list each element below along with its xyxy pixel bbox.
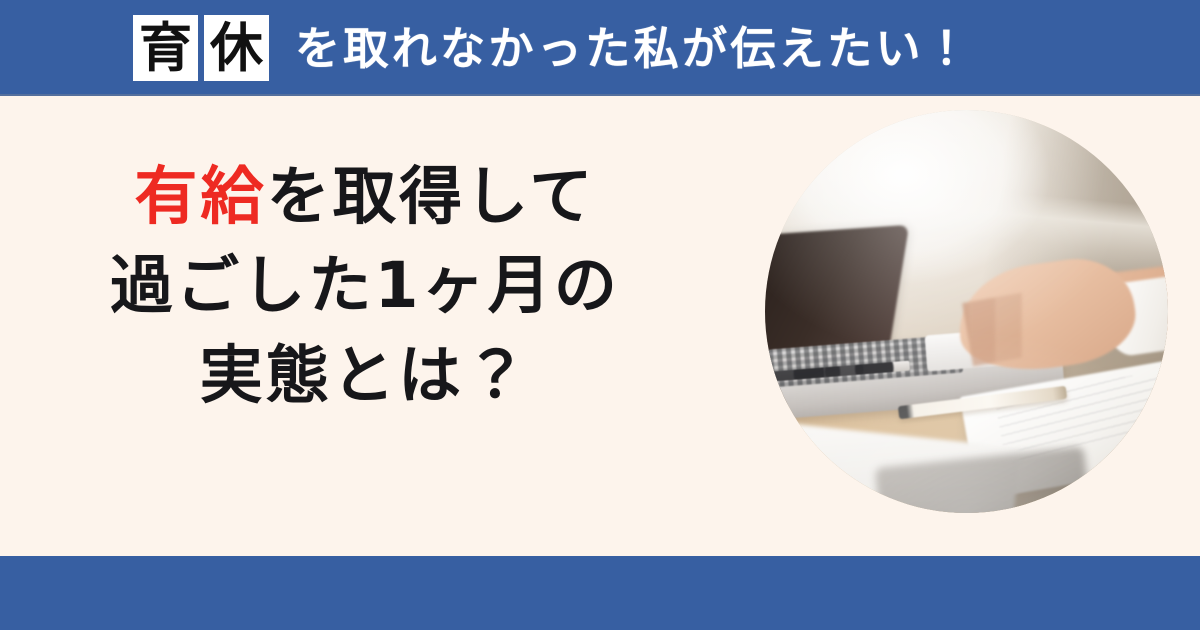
bottom-ribbon-banner xyxy=(0,556,1200,630)
top-ribbon-banner: 育 休 を取れなかった私が伝えたい！ xyxy=(0,0,1200,96)
top-ribbon-text: を取れなかった私が伝えたい！ xyxy=(295,26,972,71)
kanji-box-kyu: 休 xyxy=(204,15,269,81)
eyecatch-canvas: 育 休 を取れなかった私が伝えたい！ 有給を取得して 過ごした1ヶ月の 実態とは… xyxy=(0,0,1200,630)
circular-photo-laptop-hands xyxy=(765,110,1168,513)
kanji-box-iku: 育 xyxy=(133,15,198,81)
kanji-highlight-boxes: 育 休 xyxy=(133,15,269,81)
headline-line-2: 過ごした1ヶ月の xyxy=(0,241,730,330)
headline-line-1-rest: を取得して xyxy=(267,160,596,233)
headline-line-1: 有給を取得して xyxy=(0,152,730,241)
headline-accent-yukyu: 有給 xyxy=(134,160,266,233)
page-title: 有給を取得して 過ごした1ヶ月の 実態とは？ xyxy=(0,152,730,420)
headline-line-3: 実態とは？ xyxy=(0,331,730,420)
